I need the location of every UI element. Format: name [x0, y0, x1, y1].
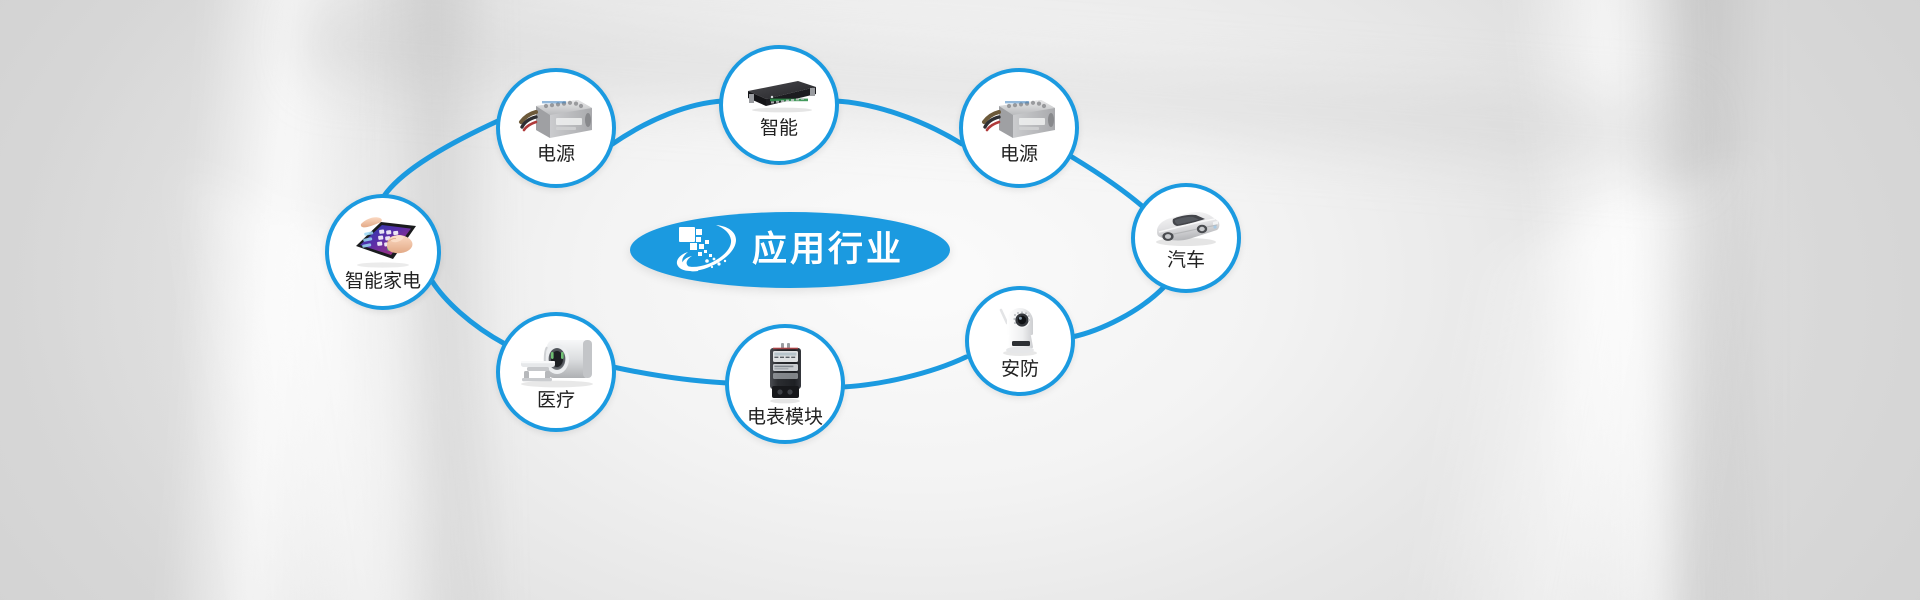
link-security-to-meter	[843, 357, 966, 387]
link-automotive-to-security	[1072, 286, 1165, 337]
connector-ring	[0, 0, 1920, 600]
center-title: 应用行业	[752, 233, 904, 268]
node-label: 医疗	[537, 391, 575, 410]
tablet-control-panel-icon	[343, 213, 423, 269]
node-automotive[interactable]: 汽车	[1131, 183, 1241, 293]
node-label: 汽车	[1167, 251, 1205, 270]
node-security[interactable]: 安防	[965, 286, 1075, 396]
link-meter-to-medical	[613, 367, 727, 383]
application-industries-banner: 应用行业	[0, 0, 1920, 600]
node-power-right[interactable]: 电源	[959, 68, 1079, 188]
node-smart[interactable]: 智能	[719, 45, 839, 165]
electric-meter-icon	[763, 342, 807, 404]
power-supply-icon	[981, 92, 1057, 142]
node-label: 智能家电	[345, 272, 421, 291]
node-label: 电源	[537, 145, 575, 164]
node-label: 电源	[1000, 145, 1038, 164]
link-medical-to-smart-appliance	[432, 281, 505, 344]
node-label: 智能	[760, 119, 798, 138]
link-power-left-to-smart	[611, 101, 723, 145]
rack-server-icon	[738, 73, 820, 113]
node-smart-appliance[interactable]: 智能家电	[325, 194, 441, 310]
center-badge: 应用行业	[630, 212, 950, 288]
orbit-swoosh-pixel-logo-icon	[676, 223, 738, 277]
link-smart-to-power-right	[836, 101, 962, 144]
node-meter-module[interactable]: 电表模块	[725, 324, 845, 444]
node-power-left[interactable]: 电源	[496, 68, 616, 188]
node-medical[interactable]: 医疗	[496, 312, 616, 432]
sports-car-icon	[1149, 206, 1223, 248]
power-supply-icon	[518, 92, 594, 142]
node-label: 安防	[1001, 360, 1039, 379]
mri-scanner-icon	[513, 334, 599, 388]
ip-camera-icon	[991, 303, 1049, 357]
link-smart-appliance-to-power-left	[384, 120, 500, 196]
node-label: 电表模块	[747, 408, 823, 427]
